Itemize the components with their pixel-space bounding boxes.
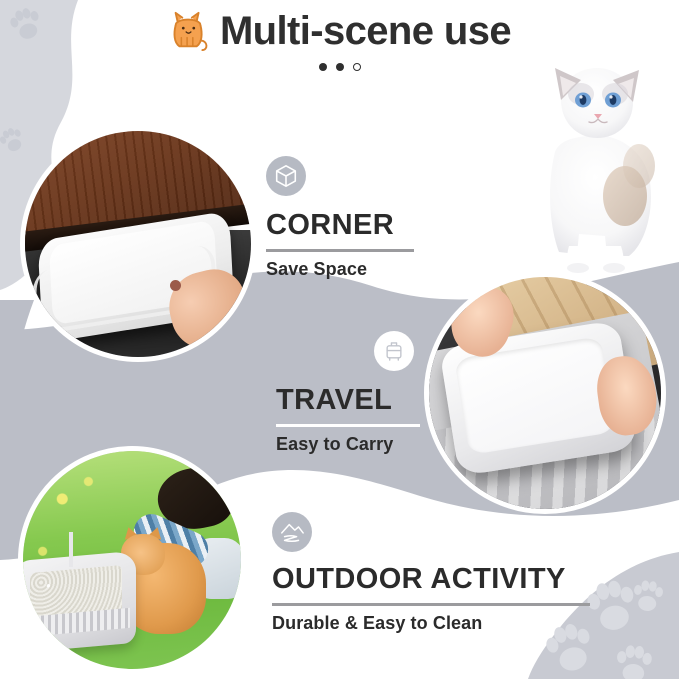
feature-outdoor: OUTDOOR ACTIVITY Durable & Easy to Clean xyxy=(272,512,590,634)
photo-outdoor xyxy=(18,446,246,674)
header: Multi-scene use xyxy=(0,8,679,71)
suitcase-icon xyxy=(374,331,414,371)
dot-indicators xyxy=(0,63,679,71)
title-row: Multi-scene use xyxy=(0,8,679,54)
page-title: Multi-scene use xyxy=(220,10,511,52)
infographic-canvas: Multi-scene use xyxy=(0,0,679,679)
cat-icon xyxy=(168,8,210,54)
feature-travel: TRAVEL Easy to Carry xyxy=(276,331,420,455)
photo-corner xyxy=(20,126,256,362)
dot-indicator-2 xyxy=(336,63,344,71)
feature-outdoor-subtitle: Durable & Easy to Clean xyxy=(272,613,590,634)
feature-outdoor-rule xyxy=(272,603,590,606)
photo-travel xyxy=(424,272,666,514)
feature-outdoor-title: OUTDOOR ACTIVITY xyxy=(272,564,590,596)
ragdoll-cat-photo xyxy=(521,56,673,274)
feature-travel-subtitle: Easy to Carry xyxy=(276,434,420,455)
feature-travel-rule xyxy=(276,424,420,427)
dot-indicator-3 xyxy=(353,63,361,71)
feature-travel-title: TRAVEL xyxy=(276,385,420,417)
feature-corner: CORNER Save Space xyxy=(266,156,414,280)
mountain-road-icon xyxy=(272,512,312,552)
feature-corner-rule xyxy=(266,249,414,252)
feature-corner-title: CORNER xyxy=(266,210,414,242)
cube-icon xyxy=(266,156,306,196)
dot-indicator-1 xyxy=(319,63,327,71)
feature-corner-subtitle: Save Space xyxy=(266,259,414,280)
